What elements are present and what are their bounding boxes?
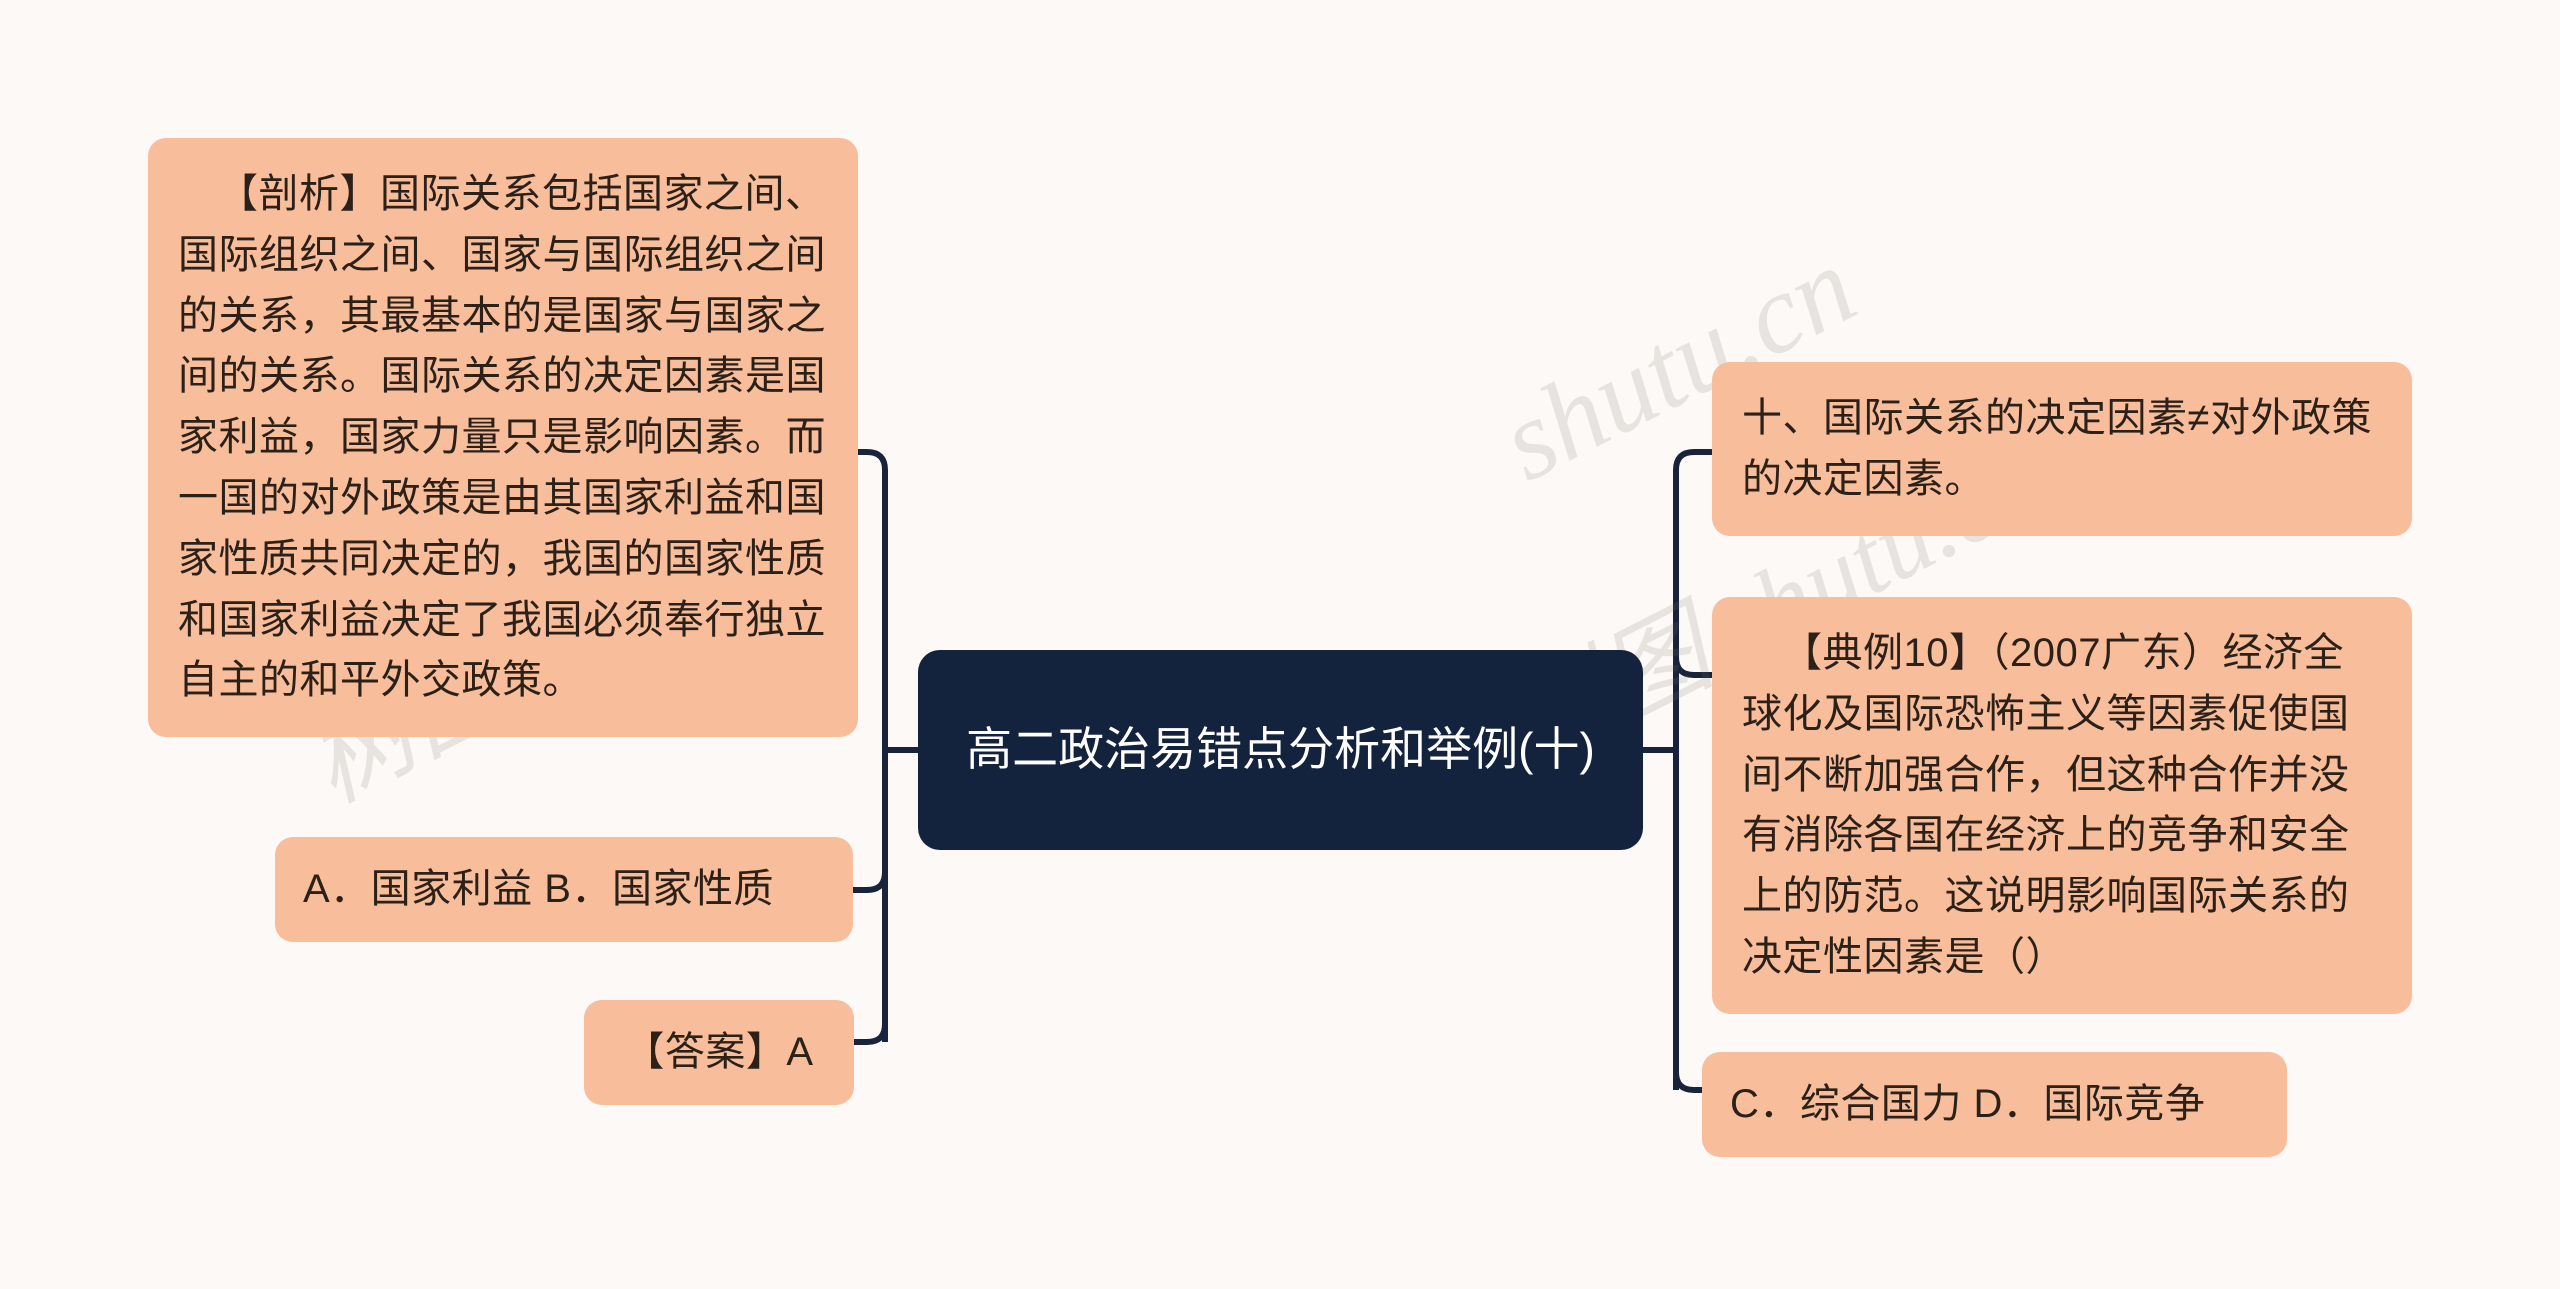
node-analysis[interactable]: 【剖析】国际关系包括国家之间、国际组织之间、国家与国际组织之间的关系，其最基本的… [148, 138, 858, 737]
connector-left-options-ab [853, 872, 885, 890]
node-root-title[interactable]: 高二政治易错点分析和举例(十) [918, 650, 1643, 850]
node-options-cd[interactable]: C．综合国力 D．国际竞争 [1702, 1052, 2287, 1157]
connector-right-point-ten [1676, 452, 1712, 470]
node-point-ten[interactable]: 十、国际关系的决定因素≠对外政策的决定因素。 [1712, 362, 2412, 536]
connector-right-options-cd [1676, 1072, 1702, 1090]
mindmap-canvas: shutu.cn shutu.cn 树图 shutu.cn 树图 【剖析】国际关… [0, 0, 2560, 1289]
connector-right-case [1676, 657, 1712, 675]
node-case-example[interactable]: 【典例10】（2007广东）经济全球化及国际恐怖主义等因素促使国间不断加强合作，… [1712, 597, 2412, 1014]
connector-left-analysis [858, 452, 885, 470]
node-options-ab[interactable]: A．国家利益 B．国家性质 [275, 837, 853, 942]
node-answer[interactable]: 【答案】A [584, 1000, 854, 1105]
connector-left-answer [854, 1024, 885, 1042]
